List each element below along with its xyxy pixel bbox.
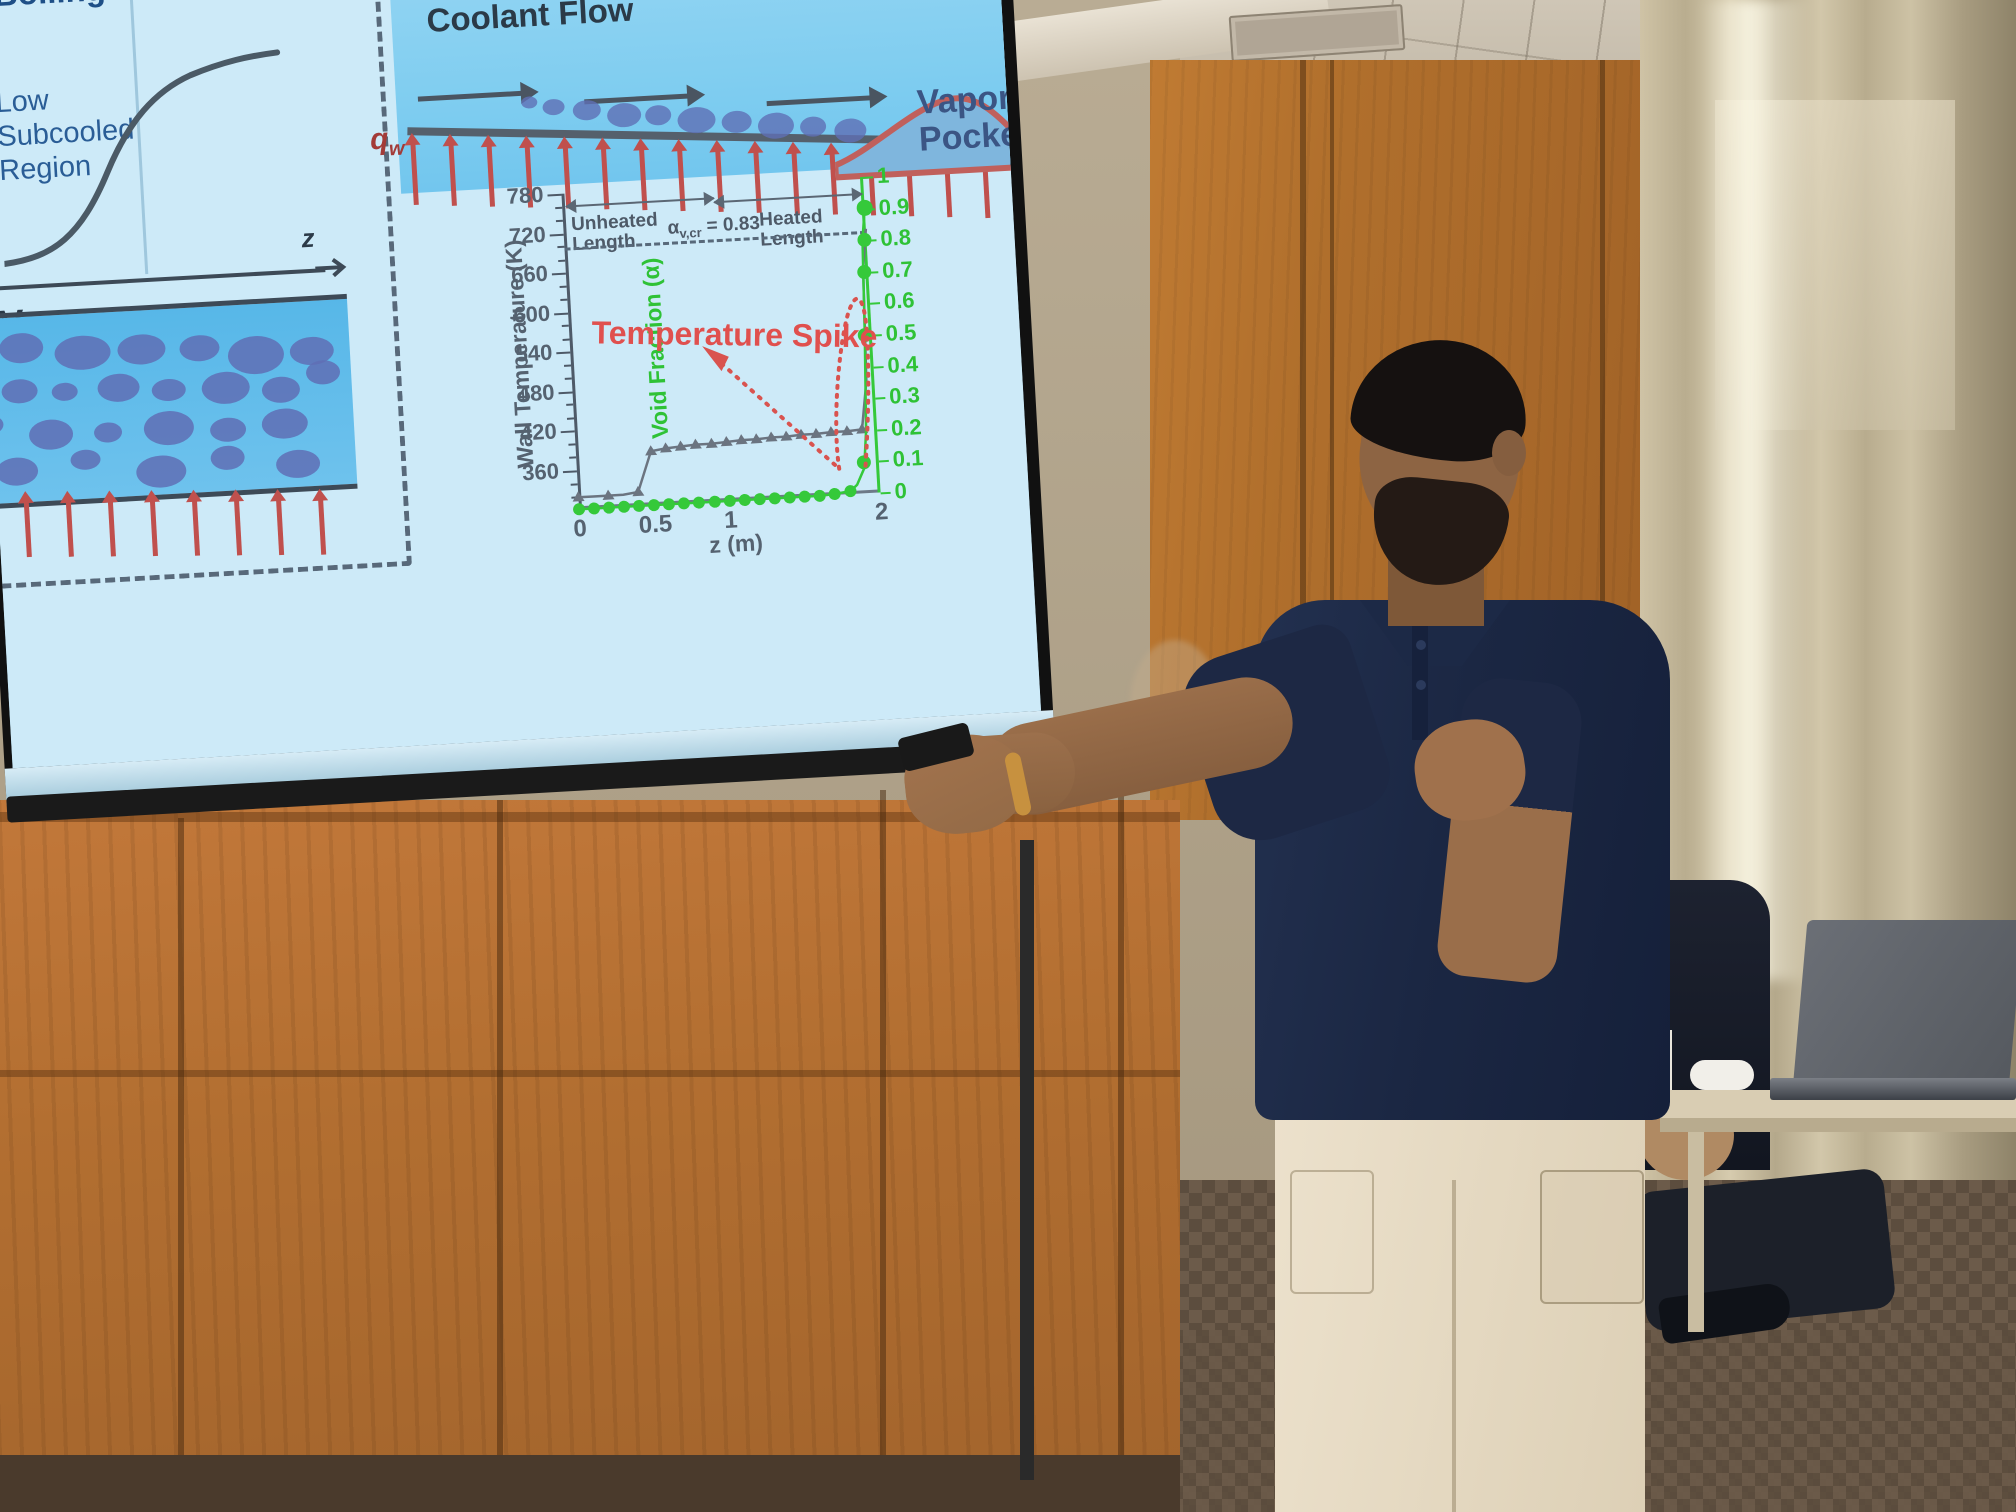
y-tick bbox=[550, 233, 564, 236]
y2-tick-label: 1 bbox=[876, 162, 890, 189]
vapor-bubble bbox=[261, 376, 300, 404]
subcooled-curve bbox=[0, 10, 325, 287]
panel-divider bbox=[880, 790, 886, 1460]
heat-flux-symbol: qw bbox=[369, 122, 405, 163]
y2-tick bbox=[863, 176, 873, 179]
pants-seam bbox=[1452, 1180, 1456, 1512]
y2-tick-label: 0.3 bbox=[889, 382, 921, 410]
vapor-bubble bbox=[151, 378, 186, 402]
bubble-channel-diagram bbox=[0, 294, 358, 517]
y2-tick-label: 0.4 bbox=[887, 351, 919, 379]
vapor-bubble bbox=[51, 382, 78, 401]
vapor-bubble bbox=[275, 449, 320, 479]
cargo-pocket-left bbox=[1290, 1170, 1374, 1294]
vapor-bubble bbox=[0, 456, 39, 486]
chf-chart: 780 720 660 600 540 480 420 bbox=[480, 150, 972, 576]
vapor-bubble bbox=[305, 359, 340, 385]
y-tick bbox=[554, 312, 568, 315]
computer-mouse bbox=[1690, 1060, 1754, 1090]
y-tick bbox=[547, 194, 561, 197]
laptop-screen bbox=[1793, 920, 2016, 1090]
y2-tick-label: 0.9 bbox=[878, 193, 910, 221]
vapor-bubble bbox=[143, 410, 195, 447]
y2-tick-label: 0.2 bbox=[890, 414, 922, 442]
vapor-bubble bbox=[210, 445, 245, 471]
y-tick bbox=[561, 430, 575, 433]
y2-tick bbox=[877, 429, 887, 432]
x-tick-label: 2 bbox=[874, 498, 889, 527]
vapor-bubble bbox=[0, 332, 44, 364]
vapor-bubble bbox=[179, 334, 220, 362]
vapor-bubble bbox=[117, 333, 167, 366]
y2-tick bbox=[879, 460, 889, 463]
z-axis-arrowhead bbox=[314, 253, 356, 285]
vapor-bubble bbox=[70, 449, 101, 471]
wall-temperature-markers bbox=[569, 423, 871, 502]
baseboard bbox=[0, 1455, 1180, 1512]
panel-divider bbox=[1118, 780, 1124, 1460]
x-tick-label: 0.5 bbox=[638, 510, 673, 540]
chart-plot-area: 780 720 660 600 540 480 420 bbox=[561, 177, 880, 509]
slide-canvas: ...ling and Critical Heat Flux (CHF) ...… bbox=[0, 0, 1041, 768]
lower-wood-paneling bbox=[0, 800, 1180, 1512]
y-tick-label: 780 bbox=[506, 182, 544, 210]
table-edge bbox=[1660, 1118, 2016, 1132]
y-tick bbox=[556, 352, 570, 355]
y2-tick bbox=[870, 303, 880, 306]
vapor-bubble bbox=[261, 407, 309, 440]
x-tick-label: 0 bbox=[573, 515, 588, 544]
spike-annotation-arrow bbox=[711, 347, 835, 471]
panel-divider bbox=[497, 800, 503, 1460]
panel-rail bbox=[0, 1070, 1180, 1077]
vapor-bubble bbox=[54, 334, 112, 371]
y2-tick-label: 0.5 bbox=[885, 319, 917, 347]
vapor-bubble bbox=[94, 422, 123, 444]
vapor-bubble bbox=[135, 454, 187, 489]
polo-button bbox=[1416, 680, 1426, 690]
screen-support-post bbox=[1020, 840, 1034, 1480]
vapor-bubble bbox=[209, 417, 246, 443]
screenshot-root: ...ling and Critical Heat Flux (CHF) ...… bbox=[0, 0, 2016, 1512]
screen-surface: ...ling and Critical Heat Flux (CHF) ...… bbox=[0, 0, 1041, 768]
y2-tick bbox=[881, 492, 891, 495]
y2-tick bbox=[874, 366, 884, 369]
y2-tick-label: 0.1 bbox=[892, 445, 924, 473]
vapor-bubble bbox=[1, 378, 38, 404]
y2-tick bbox=[875, 397, 885, 400]
panel-divider bbox=[178, 818, 184, 1458]
table-leg bbox=[1688, 1132, 1704, 1332]
y-tick bbox=[563, 470, 577, 473]
laptop-keyboard-base bbox=[1770, 1078, 2016, 1100]
vapor-bubble bbox=[0, 414, 4, 436]
z-axis-label: z bbox=[301, 223, 316, 255]
y2-tick-label: 0 bbox=[894, 478, 908, 505]
cargo-pocket-right bbox=[1540, 1170, 1644, 1304]
y2-tick-label: 0.8 bbox=[880, 225, 912, 253]
presenter-ear bbox=[1492, 430, 1526, 476]
vapor-bubble bbox=[97, 373, 140, 403]
vapor-bubble bbox=[201, 371, 251, 406]
vapor-bubble bbox=[227, 335, 285, 376]
y-tick bbox=[552, 273, 566, 276]
x-axis-title: z (m) bbox=[709, 529, 764, 559]
temperature-spike-annotation: Temperature Spike bbox=[591, 314, 877, 355]
window-daylight bbox=[1700, 0, 1810, 980]
y2-tick-label: 0.6 bbox=[883, 288, 915, 316]
vapor-bubble bbox=[28, 418, 74, 450]
y2-tick-label: 0.7 bbox=[882, 256, 914, 284]
projection-screen: ...ling and Critical Heat Flux (CHF) ...… bbox=[0, 0, 1066, 829]
polo-button bbox=[1416, 640, 1426, 650]
y-tick bbox=[558, 391, 572, 394]
